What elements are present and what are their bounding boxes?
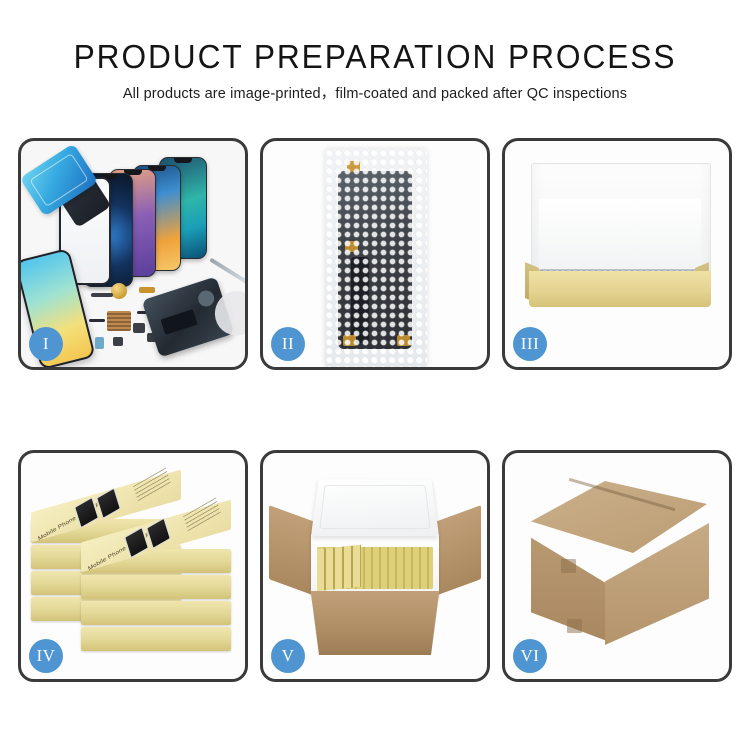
styrofoam-lid: [311, 479, 439, 536]
flex-cable: [89, 319, 105, 322]
tape-strip: [397, 335, 410, 346]
process-step-panel-3: III: [502, 138, 732, 370]
carton-tab: [561, 559, 576, 573]
screen-flex-cable: [351, 257, 369, 343]
connector-chip: [107, 311, 131, 331]
small-part: [139, 287, 155, 293]
process-step-panel-4: Mobile Phone Spare Parts Mobile Phone Sp…: [18, 450, 248, 682]
stacked-box: [81, 575, 231, 599]
small-part: [113, 337, 123, 346]
phone-notch: [174, 158, 192, 163]
step-badge-3: III: [513, 327, 547, 361]
box-label-phone-image: [96, 487, 121, 519]
process-step-panel-6: VI: [502, 450, 732, 682]
box-label-phone-image: [124, 527, 149, 559]
carton-body: [305, 591, 445, 655]
process-step-panel-5: V: [260, 450, 490, 682]
process-step-panel-2: II: [260, 138, 490, 370]
tape-strip: [345, 241, 358, 252]
process-step-panel-1: I: [18, 138, 248, 370]
step-badge-2: II: [271, 327, 305, 361]
page-header: PRODUCT PREPARATION PROCESS All products…: [0, 0, 750, 103]
box-label-spec-lines: [133, 467, 171, 502]
tape-strip: [347, 161, 360, 172]
stacked-box: [81, 627, 231, 651]
page-subtitle: All products are image-printed，film-coat…: [0, 85, 750, 103]
carton-tab: [567, 619, 582, 633]
step-badge-4: IV: [29, 639, 63, 673]
box-label-phone-image: [146, 517, 171, 549]
small-part: [95, 337, 104, 349]
white-foam-sheet: [539, 199, 701, 271]
stacked-box: [81, 601, 231, 625]
lcd-screen-assembly: [338, 171, 412, 349]
box-label-spec-lines: [183, 497, 221, 532]
yellow-boxes-inside-angled: [317, 545, 361, 592]
step-badge-1: I: [29, 327, 63, 361]
small-part: [133, 323, 145, 333]
process-step-grid: I II III: [18, 138, 732, 682]
page-title: PRODUCT PREPARATION PROCESS: [15, 38, 735, 76]
gold-component: [111, 283, 127, 299]
step-badge-6: VI: [513, 639, 547, 673]
small-part: [91, 293, 113, 297]
box-label-phone-image: [74, 497, 99, 529]
step-badge-5: V: [271, 639, 305, 673]
tape-strip: [343, 335, 356, 346]
bubble-wrap-bag: [325, 149, 427, 367]
box-front-panel: [529, 271, 711, 307]
